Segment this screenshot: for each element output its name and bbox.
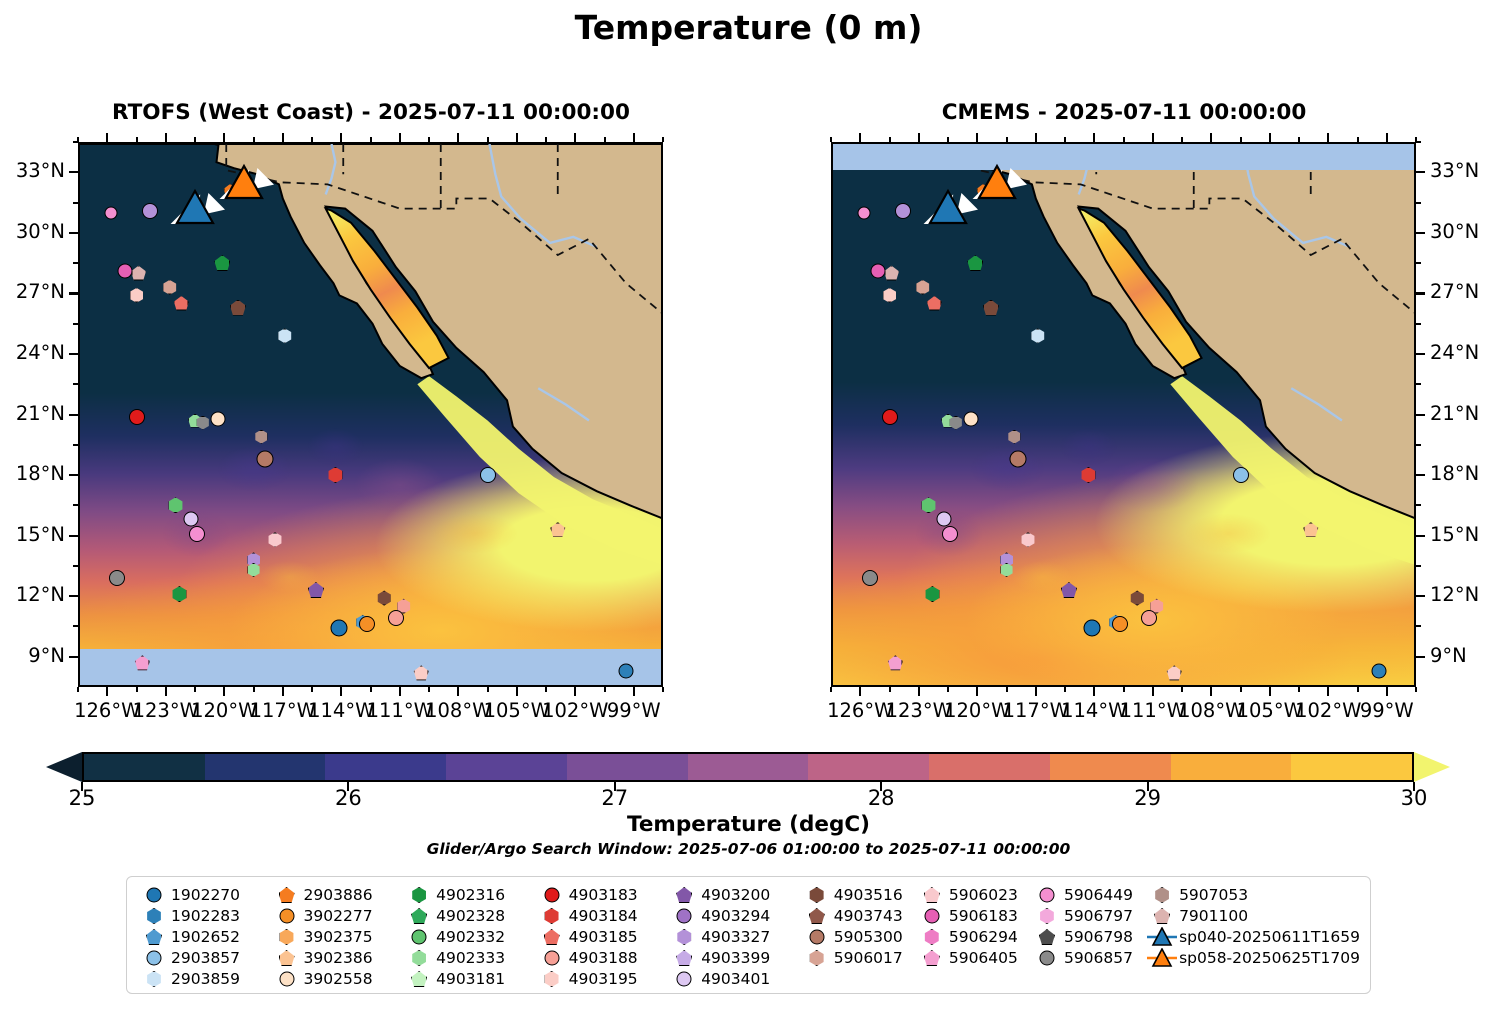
float-marker[interactable] <box>550 522 565 537</box>
legend-entry[interactable]: 4903188 <box>537 948 670 968</box>
legend-label: 5906797 <box>1062 907 1133 925</box>
legend-symbol <box>669 906 699 926</box>
colorbar-tick-label: 27 <box>601 786 628 810</box>
axis-tick <box>69 474 78 476</box>
axis-minor-tick <box>1416 504 1421 506</box>
legend-marker-pent <box>411 908 427 924</box>
axis-minor-tick <box>194 687 196 692</box>
legend-label: 4903294 <box>699 907 770 925</box>
axis-tick <box>574 687 576 696</box>
axis-minor-tick <box>604 137 606 142</box>
axis-minor-tick <box>1240 687 1242 692</box>
legend-symbol-empty <box>802 969 832 989</box>
axis-minor-tick <box>1093 133 1095 142</box>
float-marker[interactable] <box>129 288 144 303</box>
axis-minor-tick <box>918 133 920 142</box>
axis-tick-label: 24°N <box>1430 341 1479 364</box>
axis-minor-tick <box>73 504 78 506</box>
legend-entry[interactable]: 3902558 <box>272 969 405 989</box>
axis-tick-label: 18°N <box>0 462 65 485</box>
axis-tick <box>106 687 108 696</box>
legend-symbol <box>1147 906 1177 926</box>
axis-tick <box>1416 292 1425 294</box>
legend-label: 5906798 <box>1062 928 1133 946</box>
glider-track[interactable] <box>218 158 276 208</box>
float-marker[interactable] <box>1000 563 1014 577</box>
float-marker[interactable] <box>277 328 292 343</box>
axis-tick <box>69 232 78 234</box>
axis-tick-label: 33°N <box>1430 159 1479 182</box>
legend-symbol <box>537 927 567 947</box>
axis-tick <box>1416 232 1425 234</box>
axis-minor-tick <box>1415 687 1417 692</box>
legend-entry[interactable]: 4903516 <box>802 885 917 905</box>
float-marker[interactable] <box>331 620 348 637</box>
legend-symbol <box>139 927 169 947</box>
legend-column: 5906449590679759067985906857 <box>1032 885 1147 987</box>
legend-symbol <box>669 927 699 947</box>
axis-minor-tick <box>165 133 167 142</box>
float-marker[interactable] <box>230 300 246 316</box>
legend-label: 3902277 <box>302 907 373 925</box>
legend-marker-hex <box>146 908 162 924</box>
float-marker[interactable] <box>171 586 187 602</box>
legend-symbol <box>272 948 302 968</box>
axis-minor-tick <box>662 137 664 142</box>
float-marker[interactable] <box>884 266 899 281</box>
float-marker[interactable] <box>895 203 911 219</box>
axis-minor-tick <box>73 444 78 446</box>
axis-tick <box>282 687 284 696</box>
legend-label: 4902316 <box>434 886 505 904</box>
legend-marker-pent <box>279 950 295 966</box>
axis-minor-tick <box>340 133 342 142</box>
legend-symbol <box>802 927 832 947</box>
legend-label: 4903327 <box>699 928 770 946</box>
axis-minor-tick <box>77 687 79 692</box>
float-marker[interactable] <box>1372 663 1387 678</box>
legend-entry[interactable]: 3902386 <box>272 948 405 968</box>
float-marker[interactable] <box>915 280 930 295</box>
axis-minor-tick <box>1416 625 1421 627</box>
axis-tick-label: 114°W <box>308 699 374 722</box>
legend-symbol <box>917 948 947 968</box>
float-marker[interactable] <box>1021 532 1036 547</box>
legend-symbol <box>537 969 567 989</box>
legend-entry[interactable]: 5906183 <box>917 906 1032 926</box>
legend-marker-circle <box>924 909 939 924</box>
legend-marker-pent <box>411 971 427 987</box>
legend-label: 5906405 <box>947 949 1018 967</box>
axis-minor-tick <box>633 133 635 142</box>
legend-entry <box>1147 969 1360 989</box>
panel-title-cmems: CMEMS - 2025-07-11 00:00:00 <box>831 100 1417 125</box>
legend-entry[interactable]: 4903195 <box>537 969 670 989</box>
legend-marker-hex <box>809 887 825 903</box>
legend-label: 4903185 <box>567 928 638 946</box>
axis-tick-label: 105°W <box>484 699 550 722</box>
legend-symbol <box>404 927 434 947</box>
legend-entry[interactable]: sp040-20250611T1659 <box>1147 927 1360 947</box>
legend-marker-circle <box>147 888 162 903</box>
legend-entry[interactable]: 5906449 <box>1032 885 1147 905</box>
float-marker[interactable] <box>105 206 118 219</box>
axis-minor-tick <box>223 133 225 142</box>
axis-tick <box>399 687 401 696</box>
float-marker[interactable] <box>1167 665 1182 680</box>
float-marker[interactable] <box>858 206 871 219</box>
legend-entry[interactable]: 3902277 <box>272 906 405 926</box>
legend-symbol <box>917 885 947 905</box>
colorbar-tick-label: 30 <box>1401 786 1428 810</box>
axis-tick-label: 99°W <box>1360 699 1414 722</box>
legend-entry[interactable]: 4903401 <box>669 969 802 989</box>
colorbar-tick-label: 29 <box>1134 786 1161 810</box>
axis-tick <box>69 292 78 294</box>
legend-column: 49031834903184490318549031884903195 <box>537 885 670 987</box>
colorbar-band <box>205 754 326 780</box>
legend-entry[interactable]: 2903859 <box>139 969 272 989</box>
legend-column: 49023164902328490233249023334903181 <box>404 885 537 987</box>
float-marker[interactable] <box>870 264 885 279</box>
legend-column: 49032004903294490332749033994903401 <box>669 885 802 987</box>
axis-tick-label: 30°N <box>1430 220 1479 243</box>
float-marker[interactable] <box>927 296 942 311</box>
legend-label: 4903184 <box>567 907 638 925</box>
float-marker[interactable] <box>1303 522 1318 537</box>
float-marker[interactable] <box>257 450 274 467</box>
legend-marker-pent <box>1154 908 1170 924</box>
axis-minor-tick <box>73 202 78 204</box>
float-marker[interactable] <box>131 266 146 281</box>
axis-tick-label: 108°W <box>1178 699 1244 722</box>
axis-tick <box>1416 595 1425 597</box>
axis-tick <box>69 171 78 173</box>
legend-marker-circle <box>1039 951 1054 966</box>
axis-minor-tick <box>889 687 891 692</box>
float-marker[interactable] <box>619 663 634 678</box>
legend-entry[interactable]: 4903185 <box>537 927 670 947</box>
map-panel-rtofs[interactable] <box>78 142 663 687</box>
glider-triangle-icon <box>1147 948 1177 968</box>
legend-marker-hex <box>146 971 162 987</box>
float-marker[interactable] <box>924 586 940 602</box>
legend-marker-hex <box>809 950 825 966</box>
float-marker[interactable] <box>211 411 226 426</box>
legend-label: 5906017 <box>832 949 903 967</box>
legend-label: 5906023 <box>947 886 1018 904</box>
float-marker[interactable] <box>967 255 983 271</box>
axis-tick-label: 9°N <box>0 644 65 667</box>
legend-label: 2903857 <box>169 949 240 967</box>
float-marker[interactable] <box>189 526 205 542</box>
axis-minor-tick <box>1181 137 1183 142</box>
legend-entry[interactable]: 4903183 <box>537 885 670 905</box>
glider-triangle-icon <box>1147 927 1177 947</box>
legend-marker-circle <box>677 972 692 987</box>
float-marker[interactable] <box>117 264 132 279</box>
page-title: Temperature (0 m) <box>0 8 1497 47</box>
legend-entry[interactable]: 5906405 <box>917 948 1032 968</box>
legend-label: 3902375 <box>302 928 373 946</box>
float-marker[interactable] <box>1130 591 1145 606</box>
axis-minor-tick <box>194 137 196 142</box>
legend-symbol <box>139 885 169 905</box>
axis-minor-tick <box>516 133 518 142</box>
float-marker[interactable] <box>1084 620 1101 637</box>
legend-entry[interactable]: 5905300 <box>802 927 917 947</box>
legend-entry[interactable]: 4903200 <box>669 885 802 905</box>
float-marker[interactable] <box>1141 610 1157 626</box>
legend-label: 3902558 <box>302 970 373 988</box>
axis-tick <box>976 687 978 696</box>
map-panel-cmems[interactable] <box>831 142 1416 687</box>
legend-entry[interactable]: sp058-20250625T1709 <box>1147 948 1360 968</box>
legend-label: 4902333 <box>434 949 505 967</box>
legend-label: 1902652 <box>169 928 240 946</box>
legend-symbol <box>272 969 302 989</box>
float-marker[interactable] <box>888 655 903 670</box>
float-marker[interactable] <box>142 203 158 219</box>
legend-entry[interactable]: 4903743 <box>802 906 917 926</box>
axis-tick <box>1416 171 1425 173</box>
float-marker[interactable] <box>129 409 145 425</box>
legend-entry[interactable]: 4903399 <box>669 948 802 968</box>
float-marker[interactable] <box>214 255 230 271</box>
legend-entry[interactable]: 5906294 <box>917 927 1032 947</box>
axis-tick <box>69 656 78 658</box>
axis-minor-tick <box>1416 323 1421 325</box>
legend-entry[interactable]: 5906797 <box>1032 906 1147 926</box>
legend-marker-hex <box>1154 887 1170 903</box>
axis-tick-label: 102°W <box>1295 699 1361 722</box>
legend-symbol <box>404 969 434 989</box>
legend-symbol <box>272 927 302 947</box>
legend-entry[interactable]: 4902316 <box>404 885 537 905</box>
legend-label: 4903200 <box>699 886 770 904</box>
float-marker[interactable] <box>1233 467 1249 483</box>
axis-tick-label: 105°W <box>1237 699 1303 722</box>
legend-entry[interactable]: 5906798 <box>1032 927 1147 947</box>
axis-tick-label: 111°W <box>1120 699 1186 722</box>
legend-label: 4903195 <box>567 970 638 988</box>
axis-tick <box>69 535 78 537</box>
legend-symbol <box>917 906 947 926</box>
axis-tick <box>1416 474 1425 476</box>
axis-tick <box>1093 687 1095 696</box>
legend-marker-circle <box>809 930 824 945</box>
legend-label: 4903183 <box>567 886 638 904</box>
legend-marker-pent <box>146 929 162 945</box>
legend-entry <box>802 969 917 989</box>
axis-minor-tick <box>889 137 891 142</box>
axis-minor-tick <box>1064 687 1066 692</box>
axis-minor-tick <box>1210 133 1212 142</box>
legend-column: 29038863902277390237539023863902558 <box>272 885 405 987</box>
axis-tick-label: 123°W <box>886 699 952 722</box>
legend-entry[interactable]: 4903181 <box>404 969 537 989</box>
legend-entry[interactable]: 2903886 <box>272 885 405 905</box>
float-marker[interactable] <box>1061 582 1077 598</box>
legend-symbol <box>1032 885 1062 905</box>
axis-tick-label: 24°N <box>0 341 65 364</box>
legend-entry[interactable]: 4903294 <box>669 906 802 926</box>
float-marker[interactable] <box>109 570 125 586</box>
legend-marker-circle <box>544 951 559 966</box>
figure-canvas: Temperature (0 m) RTOFS (West Coast) - 2… <box>0 0 1497 1014</box>
axis-tick-label: 15°N <box>1430 523 1479 546</box>
legend-entry[interactable]: 5906017 <box>802 948 917 968</box>
float-marker[interactable] <box>921 497 937 513</box>
axis-tick-label: 114°W <box>1061 699 1127 722</box>
axis-minor-tick <box>574 133 576 142</box>
legend-symbol <box>537 885 567 905</box>
float-marker[interactable] <box>1112 616 1128 632</box>
legend-label: 5906294 <box>947 928 1018 946</box>
legend-label: 1902270 <box>169 886 240 904</box>
legend-marker-circle <box>677 909 692 924</box>
float-marker[interactable] <box>1010 450 1027 467</box>
legend-marker-pent <box>279 887 295 903</box>
legend-entry[interactable]: 1902270 <box>139 885 272 905</box>
legend-marker-circle <box>147 951 162 966</box>
float-marker[interactable] <box>862 570 878 586</box>
float-marker[interactable] <box>882 409 898 425</box>
float-marker[interactable] <box>377 591 392 606</box>
legend-symbol <box>1032 948 1062 968</box>
axis-minor-tick <box>1064 137 1066 142</box>
colorbar[interactable] <box>46 752 1450 786</box>
axis-tick <box>1416 535 1425 537</box>
legend-marker-hex <box>1039 908 1055 924</box>
axis-minor-tick <box>253 687 255 692</box>
glider-track[interactable] <box>971 158 1029 208</box>
legend-entry[interactable]: 4903184 <box>537 906 670 926</box>
legend-label: 4903399 <box>699 949 770 967</box>
axis-tick <box>340 687 342 696</box>
legend-entry[interactable]: 1902283 <box>139 906 272 926</box>
legend-symbol-empty <box>1147 969 1177 989</box>
axis-minor-tick <box>1240 137 1242 142</box>
colorbar-gradient <box>82 752 1414 782</box>
float-marker[interactable] <box>942 526 958 542</box>
float-marker[interactable] <box>174 296 189 311</box>
float-marker[interactable] <box>414 665 429 680</box>
legend-symbol <box>139 948 169 968</box>
float-marker[interactable] <box>268 532 283 547</box>
axis-tick-label: 108°W <box>425 699 491 722</box>
legend-entry[interactable]: 4902333 <box>404 948 537 968</box>
axis-minor-tick <box>947 687 949 692</box>
legend-symbol <box>802 885 832 905</box>
axis-tick <box>516 687 518 696</box>
legend-symbol <box>917 927 947 947</box>
legend-column: 59070537901100sp040-20250611T1659sp058-2… <box>1147 885 1360 987</box>
float-marker[interactable] <box>388 610 404 626</box>
legend-entry[interactable]: 1902652 <box>139 927 272 947</box>
colorbar-tick-label: 28 <box>868 786 895 810</box>
axis-minor-tick <box>73 625 78 627</box>
float-marker[interactable] <box>480 467 496 483</box>
float-marker[interactable] <box>135 655 150 670</box>
float-marker[interactable] <box>308 582 324 598</box>
axis-tick <box>1035 687 1037 696</box>
axis-minor-tick <box>1123 137 1125 142</box>
axis-minor-tick <box>1416 383 1421 385</box>
legend-label: 5906183 <box>947 907 1018 925</box>
legend-entry[interactable]: 5907053 <box>1147 885 1360 905</box>
legend-entry[interactable]: 7901100 <box>1147 906 1360 926</box>
legend-symbol <box>1147 885 1177 905</box>
axis-minor-tick <box>73 383 78 385</box>
axis-minor-tick <box>830 137 832 142</box>
axis-minor-tick <box>487 687 489 692</box>
axis-tick <box>1327 687 1329 696</box>
legend-label: 2903886 <box>302 886 373 904</box>
panel-title-rtofs: RTOFS (West Coast) - 2025-07-11 00:00:00 <box>78 100 664 125</box>
colorbar-tick-label: 26 <box>335 786 362 810</box>
axis-minor-tick <box>106 133 108 142</box>
float-marker[interactable] <box>327 467 343 483</box>
legend-entry[interactable]: 4902328 <box>404 906 537 926</box>
float-marker[interactable] <box>254 430 268 444</box>
legend-entry[interactable]: 4903327 <box>669 927 802 947</box>
axis-minor-tick <box>73 323 78 325</box>
axis-tick <box>223 687 225 696</box>
legend-symbol <box>139 969 169 989</box>
legend-entry[interactable]: 5906023 <box>917 885 1032 905</box>
legend-label: 5906449 <box>1062 886 1133 904</box>
legend-label: 1902283 <box>169 907 240 925</box>
axis-minor-tick <box>545 137 547 142</box>
legend-entry[interactable]: 4902332 <box>404 927 537 947</box>
legend-symbol-empty <box>917 969 947 989</box>
axis-tick <box>1210 687 1212 696</box>
axis-tick-label: 126°W <box>74 699 140 722</box>
float-marker[interactable] <box>1080 467 1096 483</box>
legend-entry[interactable]: 2903857 <box>139 948 272 968</box>
axis-minor-tick <box>1327 133 1329 142</box>
legend[interactable]: 1902270190228319026522903857290385929038… <box>126 876 1371 994</box>
legend-marker-hex <box>676 929 692 945</box>
axis-minor-tick <box>1035 133 1037 142</box>
axis-tick-label: 30°N <box>0 220 65 243</box>
axis-tick <box>69 595 78 597</box>
float-marker[interactable] <box>247 563 261 577</box>
legend-entry[interactable]: 3902375 <box>272 927 405 947</box>
legend-marker-hex <box>544 971 560 987</box>
legend-entry <box>917 969 1032 989</box>
observation-markers <box>80 144 661 685</box>
float-marker[interactable] <box>162 280 177 295</box>
legend-entry[interactable]: 5906857 <box>1032 948 1147 968</box>
float-marker[interactable] <box>1007 430 1021 444</box>
axis-tick <box>457 687 459 696</box>
axis-minor-tick <box>1006 687 1008 692</box>
legend-label: 4903188 <box>567 949 638 967</box>
float-marker[interactable] <box>964 411 979 426</box>
legend-marker-circle <box>412 930 427 945</box>
float-marker[interactable] <box>882 288 897 303</box>
axis-minor-tick <box>428 687 430 692</box>
axis-minor-tick <box>136 137 138 142</box>
float-marker[interactable] <box>983 300 999 316</box>
float-marker[interactable] <box>1030 328 1045 343</box>
float-marker[interactable] <box>359 616 375 632</box>
axis-minor-tick <box>73 565 78 567</box>
float-marker[interactable] <box>168 497 184 513</box>
axis-tick-label: 15°N <box>0 523 65 546</box>
